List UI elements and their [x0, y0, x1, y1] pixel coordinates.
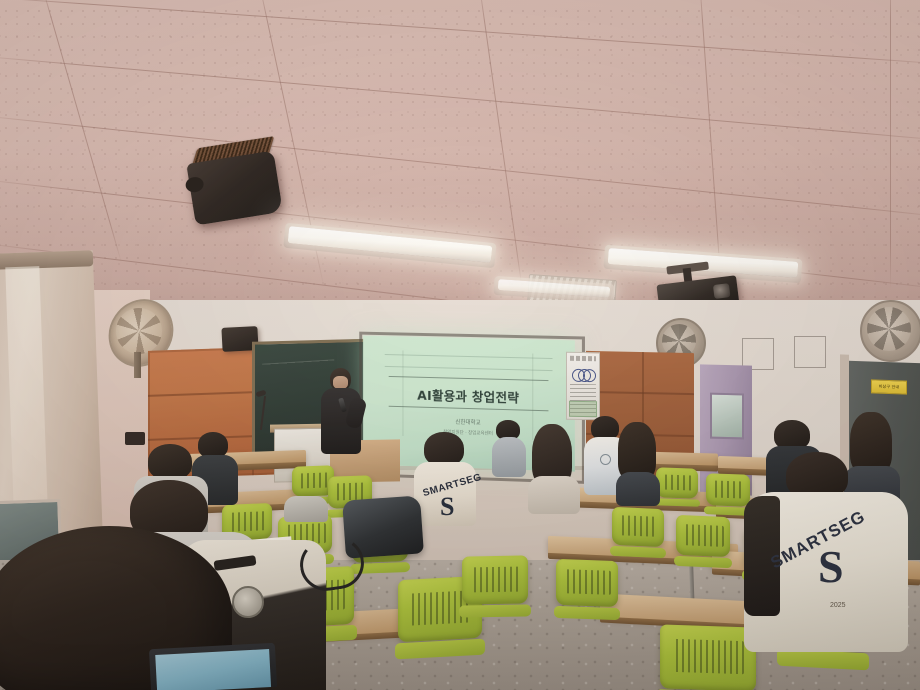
jacket-logo-letter: S	[440, 494, 454, 520]
chair-slots	[618, 515, 658, 536]
student-hair	[148, 444, 192, 480]
student: SMARTSEG S	[418, 432, 472, 524]
chair-slots	[563, 569, 610, 595]
poster-footer-box	[569, 401, 597, 417]
triple-ring-logo-icon	[572, 369, 594, 380]
chair-slots	[682, 524, 723, 547]
chair-slots	[297, 472, 329, 489]
chair-slots	[470, 566, 520, 592]
ceiling-speaker-icon	[180, 136, 288, 232]
fan-pole	[134, 352, 141, 378]
laptop[interactable]	[149, 643, 277, 690]
jacket-year: 2025	[830, 602, 846, 609]
presenter	[318, 368, 364, 460]
chair[interactable]	[462, 555, 528, 604]
projector-lens	[713, 283, 731, 299]
chair[interactable]	[676, 515, 730, 557]
chair-slots	[711, 480, 744, 498]
jacket-logo-letter: S	[818, 544, 844, 590]
jacket-patch-icon	[232, 586, 264, 618]
student-torso	[528, 476, 580, 514]
student-torso	[492, 437, 526, 477]
door-window	[710, 393, 744, 440]
chair-slots	[333, 482, 366, 500]
classroom-photo: AI활용과 창업전략 신한대학교 창업지원단 · 창업교육센터 비상구 안내	[0, 0, 920, 690]
cabinet-seam	[586, 391, 694, 395]
wall-poster	[566, 352, 600, 421]
student	[492, 420, 526, 476]
chair[interactable]	[660, 624, 756, 690]
chair-slots	[672, 639, 745, 675]
uniform-emblem-icon	[600, 454, 611, 465]
chair-seat	[554, 606, 621, 620]
fan-blades	[867, 307, 911, 351]
wall-note	[794, 336, 826, 368]
student-torso	[616, 472, 660, 506]
student	[616, 422, 658, 504]
laptop-screen	[155, 649, 271, 690]
sheer-curtain	[5, 266, 48, 533]
slide-gridline	[385, 366, 553, 371]
student	[530, 424, 576, 510]
student: SMARTSEG S 2025	[744, 452, 904, 648]
slide-gridline	[385, 354, 553, 359]
poster-header	[570, 356, 596, 361]
chair[interactable]	[556, 559, 618, 607]
fluorescent-light	[498, 279, 610, 298]
chair[interactable]	[612, 507, 664, 547]
door-sign: 비상구 안내	[871, 379, 907, 394]
bag	[284, 496, 328, 522]
student-hair	[424, 432, 464, 466]
slide-rule	[389, 376, 549, 381]
slide-title: AI활용과 창업전략	[363, 383, 575, 408]
chair[interactable]	[656, 467, 698, 498]
chair-seat	[459, 604, 530, 618]
chair-slots	[661, 474, 693, 491]
